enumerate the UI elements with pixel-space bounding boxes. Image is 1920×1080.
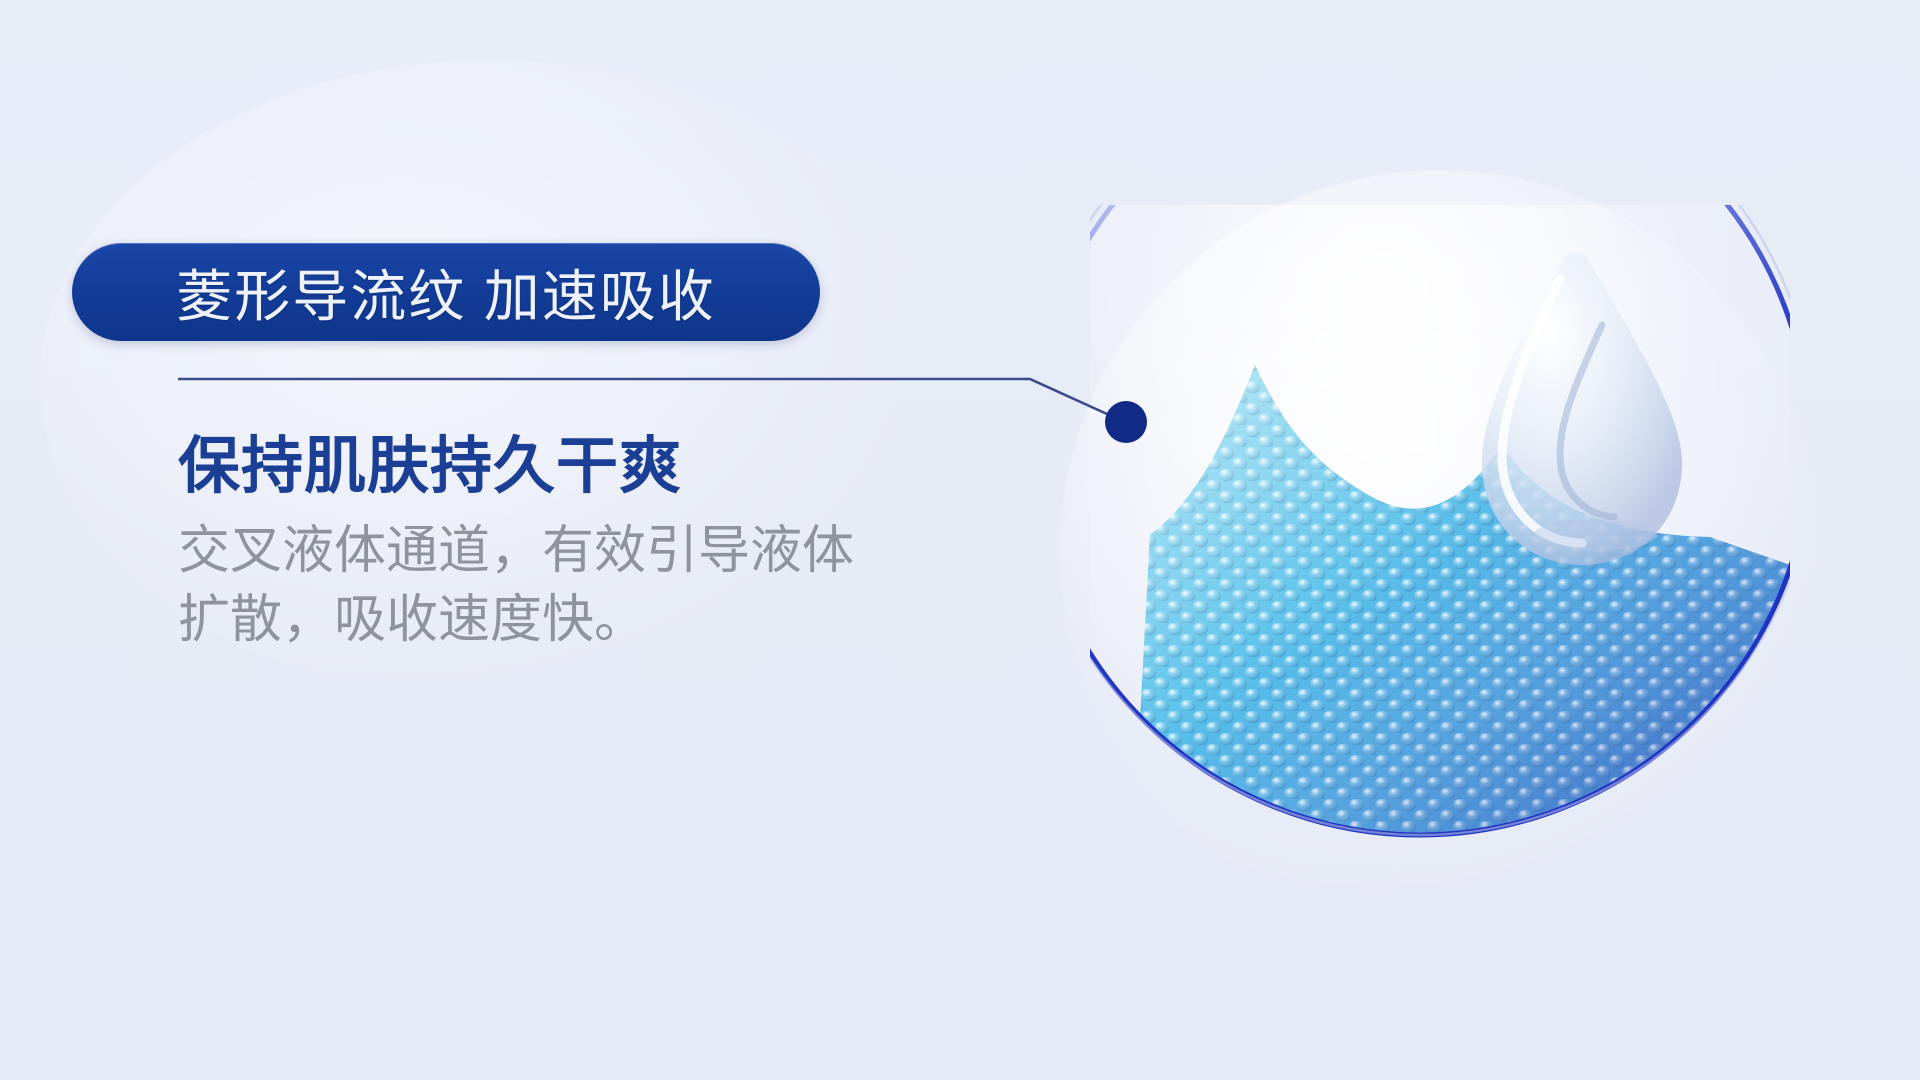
- product-illustration: [1090, 205, 1790, 845]
- headline: 保持肌肤持久干爽: [178, 430, 998, 503]
- feature-badge[interactable]: 菱形导流纹 加速吸收: [72, 243, 820, 341]
- promo-banner: 菱形导流纹 加速吸收 保持肌肤持久干爽 交叉液体通道，有效引导液体 扩散，吸收速…: [0, 0, 1920, 1080]
- illustration-clip-group: [1090, 205, 1790, 845]
- body-line-2: 扩散，吸收速度快。: [178, 586, 968, 655]
- feature-badge-label: 菱形导流纹 加速吸收: [176, 252, 716, 333]
- body-line-1: 交叉液体通道，有效引导液体: [178, 517, 968, 586]
- copy-block: 保持肌肤持久干爽 交叉液体通道，有效引导液体 扩散，吸收速度快。: [178, 430, 998, 654]
